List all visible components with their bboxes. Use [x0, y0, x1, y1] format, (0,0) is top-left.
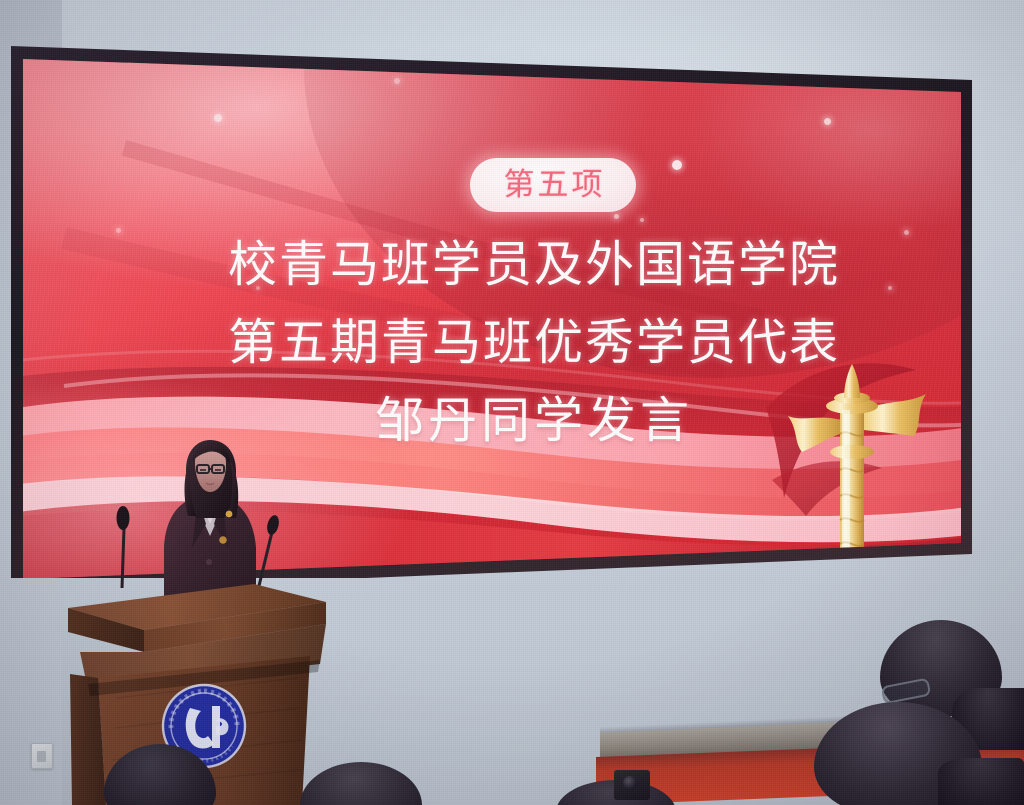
lapel-pin	[226, 511, 233, 518]
light-speck	[824, 118, 831, 125]
light-speck	[116, 228, 121, 233]
light-speck	[614, 214, 619, 219]
slide-title-line-2: 第五期青马班优秀学员代表	[154, 304, 914, 382]
presentation-photo-scene: 第五项 校青马班学员及外国语学院 第五期青马班优秀学员代表 邹丹同学发言	[0, 0, 1024, 805]
slide-section-badge: 第五项	[470, 158, 636, 212]
light-speck	[214, 114, 222, 122]
audience-shoulder-right-front	[938, 758, 1024, 805]
lapel-pin-secondary	[219, 536, 227, 544]
light-speck	[640, 218, 644, 222]
microphone-left	[108, 498, 138, 590]
handheld-camera	[614, 770, 650, 800]
light-speck	[394, 78, 400, 84]
light-speck	[672, 160, 682, 170]
slide-title: 校青马班学员及外国语学院 第五期青马班优秀学员代表 邹丹同学发言	[154, 226, 914, 460]
wall-light-switch[interactable]	[31, 743, 53, 769]
slide-title-line-1: 校青马班学员及外国语学院	[154, 226, 914, 304]
slide-section-badge-label: 第五项	[501, 170, 606, 201]
